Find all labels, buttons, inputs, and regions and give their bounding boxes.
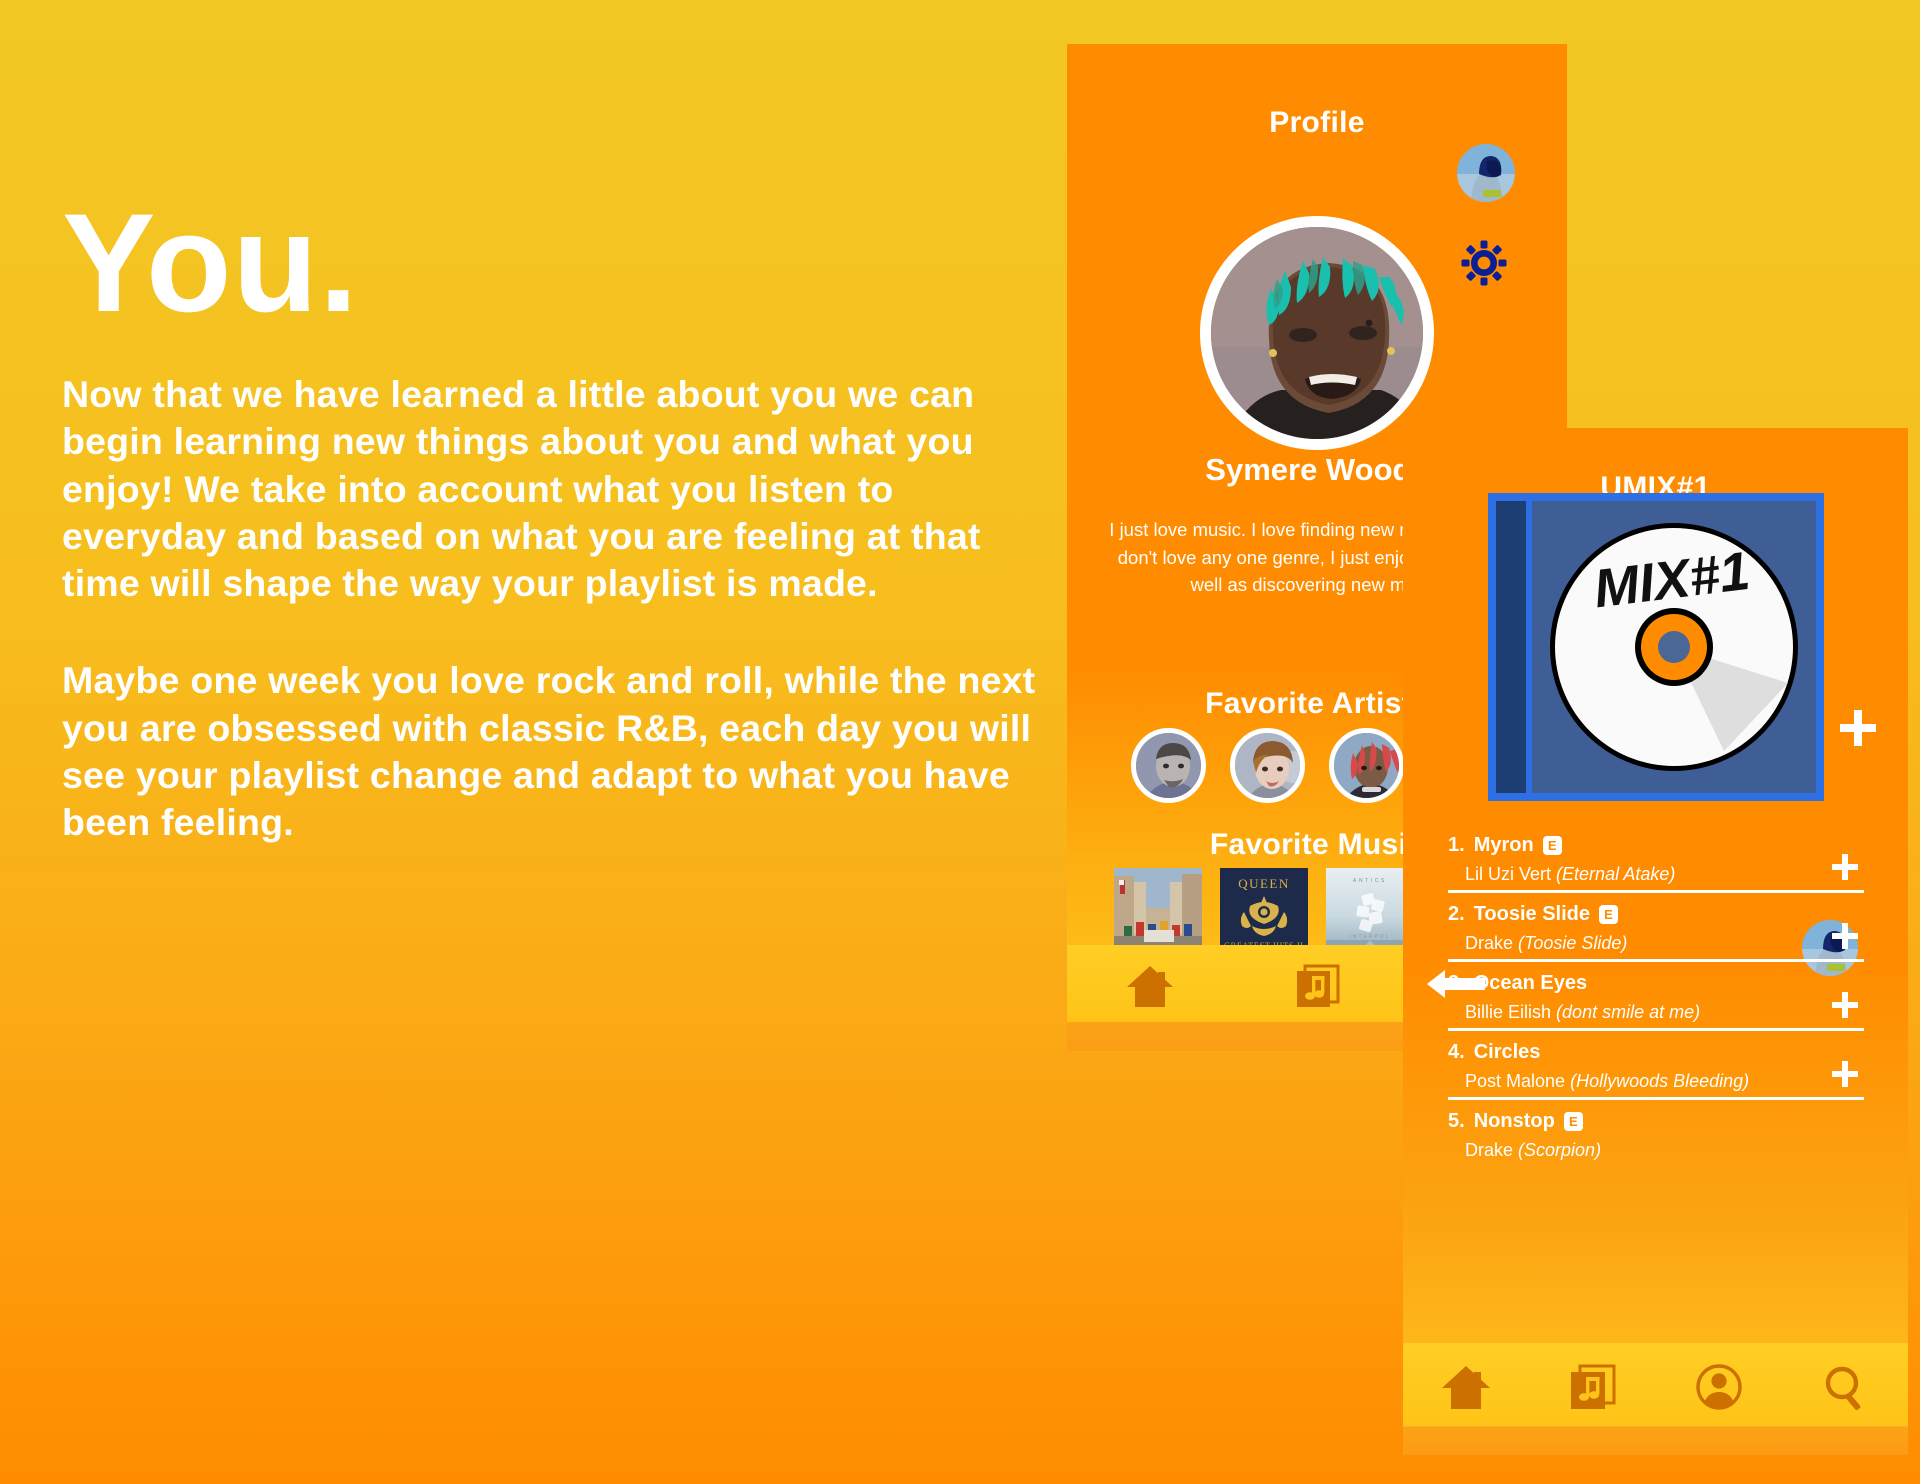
nav-item-library[interactable]	[1234, 963, 1401, 1009]
intro-copy-block: You. Now that we have learned a little a…	[62, 196, 1072, 846]
user-mini-avatar[interactable]	[1457, 144, 1515, 202]
track-album: (dont smile at me)	[1556, 1002, 1700, 1022]
add-mix-button[interactable]	[1836, 706, 1880, 750]
nav-item-home[interactable]	[1067, 963, 1234, 1009]
library-icon	[1566, 1363, 1618, 1411]
intro-paragraph-1: Now that we have learned a little about …	[62, 371, 1042, 607]
track-artist: Post Malone	[1465, 1071, 1565, 1091]
album-cover-2[interactable]: QUEEN GREATEST HITS II	[1220, 868, 1308, 956]
home-icon	[1440, 1363, 1492, 1411]
add-track-button[interactable]	[1830, 1059, 1860, 1089]
track-title-line: 5. Nonstop E	[1448, 1110, 1864, 1133]
track-title: Nonstop	[1474, 1110, 1555, 1133]
profile-screen-title: Profile	[1067, 106, 1567, 140]
home-icon	[1125, 963, 1175, 1009]
track-artist-line: Drake (Scorpion)	[1448, 1140, 1864, 1161]
explicit-badge: E	[1543, 836, 1562, 855]
track-artist: Drake	[1465, 1140, 1513, 1160]
track-list: 1. Myron E Lil Uzi Vert (Eternal Atake) …	[1448, 834, 1864, 1176]
track-title-line: 4. Circles	[1448, 1041, 1864, 1064]
intro-paragraph-2: Maybe one week you love rock and roll, w…	[62, 657, 1042, 846]
explicit-badge: E	[1599, 905, 1618, 924]
track-album: (Eternal Atake)	[1556, 864, 1675, 884]
artist-avatar-1[interactable]	[1131, 728, 1206, 803]
profile-icon	[1693, 1363, 1745, 1411]
track-number: 2.	[1448, 903, 1465, 926]
track-number: 4.	[1448, 1041, 1465, 1064]
add-track-button[interactable]	[1830, 852, 1860, 882]
page-title: You.	[62, 196, 1072, 329]
nav-item-search[interactable]	[1782, 1363, 1908, 1411]
nav-item-profile[interactable]	[1656, 1363, 1782, 1411]
track-title: Ocean Eyes	[1474, 972, 1587, 995]
album-cover-1[interactable]	[1114, 868, 1202, 956]
track-title-line: 3. Ocean Eyes	[1448, 972, 1864, 995]
nav-item-library[interactable]	[1529, 1363, 1655, 1411]
track-artist-line: Drake (Toosie Slide)	[1448, 933, 1864, 954]
track-title: Toosie Slide	[1474, 903, 1590, 926]
track-number: 1.	[1448, 834, 1465, 857]
track-artist-line: Post Malone (Hollywoods Bleeding)	[1448, 1071, 1864, 1092]
track-title-line: 2. Toosie Slide E	[1448, 903, 1864, 926]
track-artist: Drake	[1465, 933, 1513, 953]
library-icon	[1292, 963, 1342, 1009]
explicit-badge: E	[1564, 1112, 1583, 1131]
add-track-button[interactable]	[1830, 921, 1860, 951]
track-row[interactable]: 4. Circles Post Malone (Hollywoods Bleed…	[1448, 1041, 1864, 1100]
track-artist-line: Billie Eilish (dont smile at me)	[1448, 1002, 1864, 1023]
artist-avatar-3[interactable]	[1329, 728, 1404, 803]
track-album: (Scorpion)	[1518, 1140, 1601, 1160]
track-row[interactable]: 3. Ocean Eyes Billie Eilish (dont smile …	[1448, 972, 1864, 1031]
artist-avatar-2[interactable]	[1230, 728, 1305, 803]
track-album: (Toosie Slide)	[1518, 933, 1627, 953]
track-title: Myron	[1474, 834, 1534, 857]
umix-bottom-nav	[1403, 1343, 1908, 1455]
svg-text:ANTICS: ANTICS	[1353, 878, 1387, 884]
track-number: 3.	[1448, 972, 1465, 995]
track-row[interactable]: 2. Toosie Slide E Drake (Toosie Slide)	[1448, 903, 1864, 962]
nav-item-home[interactable]	[1403, 1363, 1529, 1411]
track-title: Circles	[1474, 1041, 1541, 1064]
playlist-artwork[interactable]: MIX#1	[1488, 493, 1824, 801]
gear-icon[interactable]	[1461, 240, 1507, 286]
track-artist: Lil Uzi Vert	[1465, 864, 1551, 884]
add-track-button[interactable]	[1830, 990, 1860, 1020]
album-cover-3[interactable]: ANTICS INTERPOL	[1326, 868, 1414, 956]
svg-text:QUEEN: QUEEN	[1238, 876, 1290, 891]
svg-text:INTERPOL: INTERPOL	[1349, 934, 1390, 940]
track-artist-line: Lil Uzi Vert (Eternal Atake)	[1448, 864, 1864, 885]
track-row[interactable]: 5. Nonstop E Drake (Scorpion)	[1448, 1110, 1864, 1166]
track-artist: Billie Eilish	[1465, 1002, 1551, 1022]
umix-playlist-card: UMIX#1 MIX#1	[1403, 428, 1908, 1455]
track-row[interactable]: 1. Myron E Lil Uzi Vert (Eternal Atake)	[1448, 834, 1864, 893]
profile-photo[interactable]	[1200, 216, 1434, 450]
track-album: (Hollywoods Bleeding)	[1570, 1071, 1749, 1091]
track-title-line: 1. Myron E	[1448, 834, 1864, 857]
track-number: 5.	[1448, 1110, 1465, 1133]
search-icon	[1819, 1363, 1871, 1411]
